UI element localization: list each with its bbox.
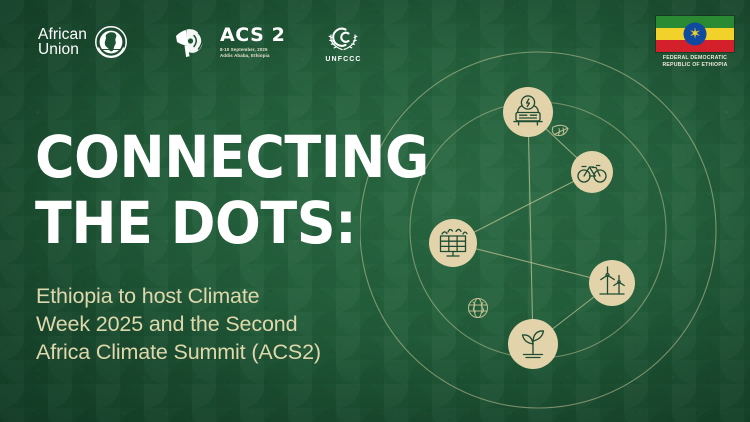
node-solar-panel xyxy=(429,219,477,267)
african-union-wordmark: African Union xyxy=(38,27,87,57)
ethiopia-caption: FEDERAL DEMOCRATIC REPUBLIC OF ETHIOPIA xyxy=(656,55,734,69)
acs-megaphone-icon xyxy=(172,24,214,60)
headline-line-2: THE DOTS: xyxy=(35,190,429,256)
acs-subtitle: 8-10 September, 2025 Addis Ababa, Ethiop… xyxy=(220,47,286,59)
african-union-logo: African Union xyxy=(38,25,128,59)
page-title: CONNECTING THE DOTS: xyxy=(35,124,429,256)
au-line-1: African xyxy=(38,27,87,42)
africa-map-icon xyxy=(94,25,128,59)
acs-place: Addis Ababa, Ethiopia xyxy=(220,53,286,59)
star-glyph: ✶ xyxy=(689,26,702,41)
leaf-icon xyxy=(552,125,568,135)
logo-bar: African Union xyxy=(0,0,750,84)
node-bicycle xyxy=(571,151,613,193)
au-line-2: Union xyxy=(38,42,87,57)
headline-line-1: CONNECTING xyxy=(35,124,429,190)
unfccc-c-wreath-icon xyxy=(323,21,363,55)
network-links xyxy=(453,112,612,344)
node-leaf xyxy=(552,125,568,135)
unfccc-logo: UNFCCC xyxy=(323,21,363,63)
acs2-logo: ACS 2 8-10 September, 2025 Addis Ababa, … xyxy=(172,24,286,60)
subhead-line-1: Ethiopia to host Climate xyxy=(36,282,321,310)
globe-icon xyxy=(469,299,488,318)
unfccc-label: UNFCCC xyxy=(325,56,361,63)
node-ev-car xyxy=(503,87,553,137)
node-globe xyxy=(469,299,488,318)
subhead-line-2: Week 2025 and the Second xyxy=(36,310,321,338)
page-subtitle: Ethiopia to host Climate Week 2025 and t… xyxy=(36,282,321,366)
link-solar-wind xyxy=(453,243,612,283)
ethiopia-flag-icon: ✶ xyxy=(656,16,734,52)
node-seedling xyxy=(508,319,558,369)
ethiopia-flag-block: ✶ FEDERAL DEMOCRATIC REPUBLIC OF ETHIOPI… xyxy=(656,16,734,69)
ethiopia-star-emblem: ✶ xyxy=(684,22,707,45)
node-wind-turbine xyxy=(589,260,635,306)
link-ev-seedling xyxy=(528,112,533,344)
poster-canvas: African Union xyxy=(0,0,750,422)
acs-title: ACS 2 xyxy=(220,26,286,45)
acs-text-block: ACS 2 8-10 September, 2025 Addis Ababa, … xyxy=(220,26,286,59)
ethiopia-caption-line-2: REPUBLIC OF ETHIOPIA xyxy=(656,62,734,69)
subhead-line-3: Africa Climate Summit (ACS2) xyxy=(36,338,321,366)
ethiopia-caption-line-1: FEDERAL DEMOCRATIC xyxy=(656,55,734,62)
